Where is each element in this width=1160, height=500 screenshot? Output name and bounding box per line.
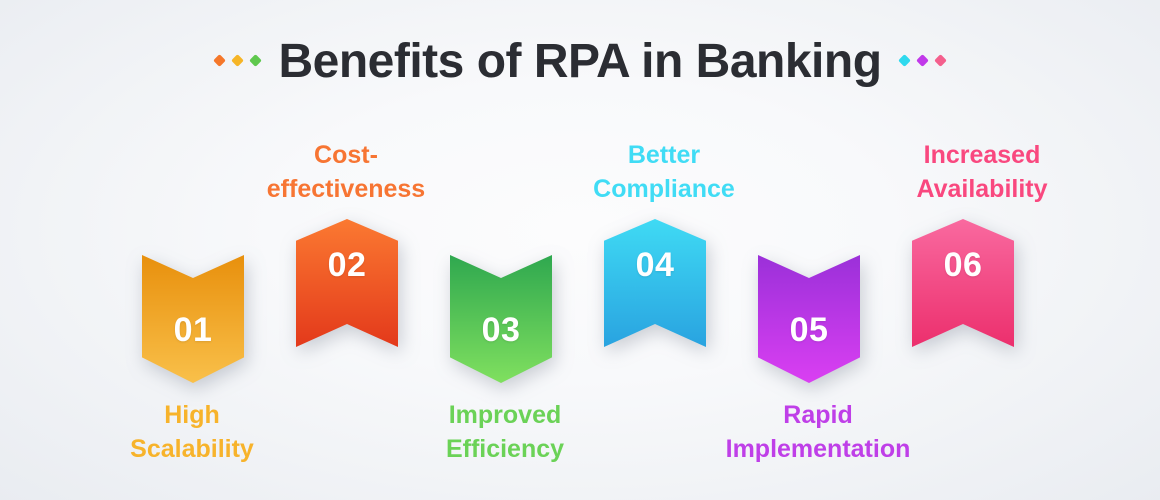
dot-amber-icon <box>232 54 245 67</box>
step-marker-05[interactable]: 05 <box>758 255 860 383</box>
dot-cyan-icon <box>898 54 911 67</box>
step-label-06: Increased Availability <box>872 139 1092 206</box>
step-marker-03[interactable]: 03 <box>450 255 552 383</box>
step-marker-06[interactable]: 06 <box>912 219 1014 347</box>
step-marker-01[interactable]: 01 <box>142 255 244 383</box>
step-marker-04[interactable]: 04 <box>604 219 706 347</box>
chevron-fill-03 <box>450 255 552 383</box>
chevron-fill-06 <box>912 219 1014 347</box>
chevron-shape-06: 06 <box>912 219 1014 347</box>
dot-orange-icon <box>214 54 227 67</box>
chevron-fill-02 <box>296 219 398 347</box>
chevron-shape-03: 03 <box>450 255 552 383</box>
step-label-03: Improved Efficiency <box>405 399 605 466</box>
chevron-shape-02: 02 <box>296 219 398 347</box>
dot-purple-icon <box>916 54 929 67</box>
title-row: Benefits of RPA in Banking <box>0 36 1160 89</box>
step-label-01: High Scalability <box>92 399 292 466</box>
chevron-shape-05: 05 <box>758 255 860 383</box>
chevron-fill-01 <box>142 255 244 383</box>
right-decorative-dots <box>900 56 945 69</box>
chevron-fill-05 <box>758 255 860 383</box>
dot-pink-icon <box>934 54 947 67</box>
page-title: Benefits of RPA in Banking <box>278 36 881 89</box>
step-label-04: Better Compliance <box>554 139 774 206</box>
chevron-fill-04 <box>604 219 706 347</box>
infographic-canvas: Benefits of RPA in Banking 01High Scalab… <box>0 0 1160 500</box>
step-label-02: Cost- effectiveness <box>236 139 456 206</box>
step-marker-02[interactable]: 02 <box>296 219 398 347</box>
step-label-05: Rapid Implementation <box>678 399 958 466</box>
dot-green-icon <box>250 54 263 67</box>
left-decorative-dots <box>215 56 260 69</box>
chevron-shape-04: 04 <box>604 219 706 347</box>
chevron-shape-01: 01 <box>142 255 244 383</box>
